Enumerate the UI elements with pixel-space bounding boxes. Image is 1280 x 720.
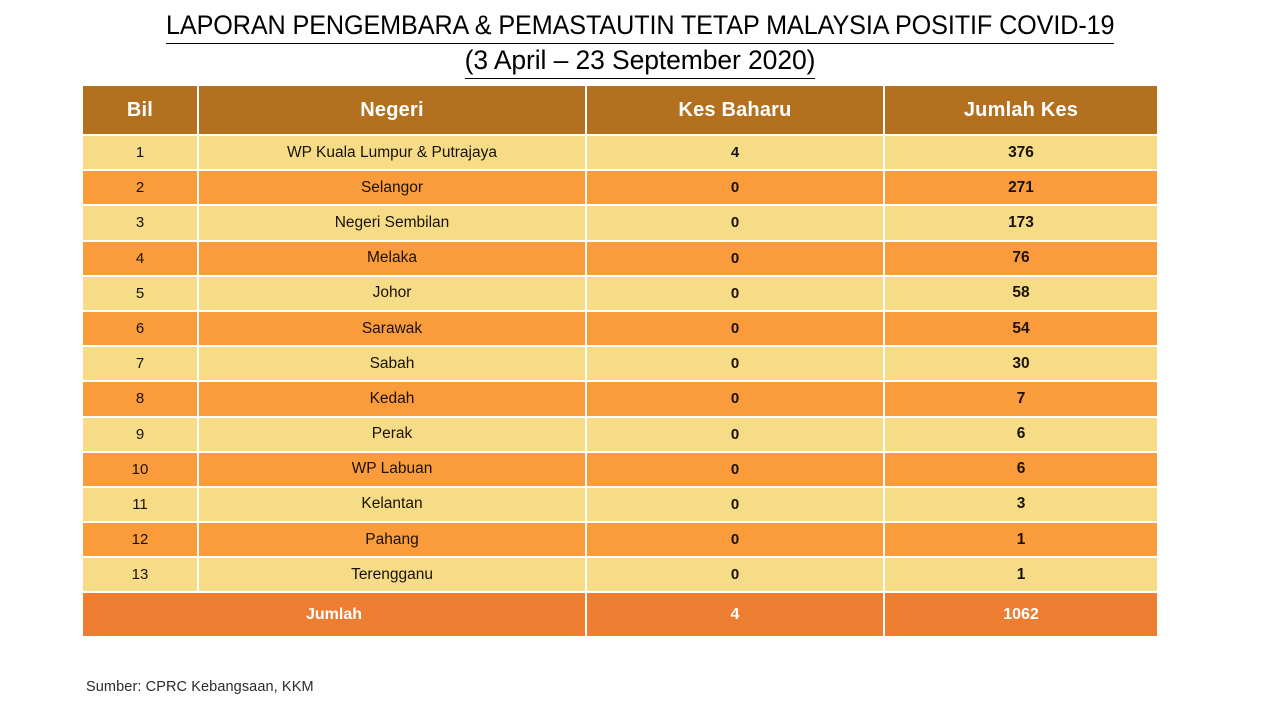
column-header-kes-baharu: Kes Baharu — [587, 86, 883, 134]
table-header: Bil Negeri Kes Baharu Jumlah Kes — [83, 86, 1157, 134]
title-line-1-text: LAPORAN PENGEMBARA & PEMASTAUTIN TETAP M… — [166, 9, 1114, 44]
cell-bil: 1 — [83, 136, 197, 169]
cell-kes-baharu: 0 — [587, 488, 883, 521]
table-row: 1WP Kuala Lumpur & Putrajaya4376 — [83, 136, 1157, 169]
cell-kes-baharu: 4 — [587, 136, 883, 169]
table-body: 1WP Kuala Lumpur & Putrajaya43762Selango… — [83, 136, 1157, 636]
cell-kes-baharu: 0 — [587, 523, 883, 556]
cell-bil: 12 — [83, 523, 197, 556]
total-label: Jumlah — [83, 593, 585, 636]
cell-negeri: Sabah — [199, 347, 585, 380]
cell-jumlah-kes: 173 — [885, 206, 1157, 239]
table-row: 3Negeri Sembilan0173 — [83, 206, 1157, 239]
table-row: 6Sarawak054 — [83, 312, 1157, 345]
table-row: 12Pahang01 — [83, 523, 1157, 556]
cell-bil: 7 — [83, 347, 197, 380]
page-title: LAPORAN PENGEMBARA & PEMASTAUTIN TETAP M… — [0, 0, 1280, 79]
title-line-2-text: (3 April – 23 September 2020) — [465, 44, 816, 79]
total-jumlah-kes: 1062 — [885, 593, 1157, 636]
cell-jumlah-kes: 58 — [885, 277, 1157, 310]
cell-kes-baharu: 0 — [587, 277, 883, 310]
title-line-2: (3 April – 23 September 2020) — [0, 44, 1280, 79]
table-row: 2Selangor0271 — [83, 171, 1157, 204]
table-total-row: Jumlah41062 — [83, 593, 1157, 636]
table-row: 5Johor058 — [83, 277, 1157, 310]
cell-kes-baharu: 0 — [587, 206, 883, 239]
total-kes-baharu: 4 — [587, 593, 883, 636]
cell-jumlah-kes: 271 — [885, 171, 1157, 204]
cell-jumlah-kes: 3 — [885, 488, 1157, 521]
table-row: 7Sabah030 — [83, 347, 1157, 380]
cell-kes-baharu: 0 — [587, 453, 883, 486]
column-header-negeri: Negeri — [199, 86, 585, 134]
cell-jumlah-kes: 76 — [885, 242, 1157, 275]
table-row: 13Terengganu01 — [83, 558, 1157, 591]
cell-kes-baharu: 0 — [587, 347, 883, 380]
cell-jumlah-kes: 7 — [885, 382, 1157, 415]
cell-negeri: WP Labuan — [199, 453, 585, 486]
cell-bil: 10 — [83, 453, 197, 486]
table-row: 11Kelantan03 — [83, 488, 1157, 521]
cell-bil: 4 — [83, 242, 197, 275]
cell-negeri: Perak — [199, 418, 585, 451]
cell-negeri: Johor — [199, 277, 585, 310]
cell-jumlah-kes: 1 — [885, 558, 1157, 591]
cell-kes-baharu: 0 — [587, 242, 883, 275]
cell-bil: 8 — [83, 382, 197, 415]
table-row: 9Perak06 — [83, 418, 1157, 451]
source-note: Sumber: CPRC Kebangsaan, KKM — [86, 679, 314, 695]
cell-negeri: Kelantan — [199, 488, 585, 521]
cell-negeri: Pahang — [199, 523, 585, 556]
cell-negeri: Selangor — [199, 171, 585, 204]
cell-negeri: Terengganu — [199, 558, 585, 591]
cell-jumlah-kes: 376 — [885, 136, 1157, 169]
report-table-container: Bil Negeri Kes Baharu Jumlah Kes 1WP Kua… — [81, 84, 1159, 638]
cell-bil: 11 — [83, 488, 197, 521]
table-row: 4Melaka076 — [83, 242, 1157, 275]
cell-negeri: Sarawak — [199, 312, 585, 345]
cell-jumlah-kes: 6 — [885, 418, 1157, 451]
cell-bil: 3 — [83, 206, 197, 239]
cell-kes-baharu: 0 — [587, 558, 883, 591]
cell-kes-baharu: 0 — [587, 312, 883, 345]
table-row: 10WP Labuan06 — [83, 453, 1157, 486]
table-row: 8Kedah07 — [83, 382, 1157, 415]
cell-bil: 9 — [83, 418, 197, 451]
cell-bil: 13 — [83, 558, 197, 591]
cell-bil: 2 — [83, 171, 197, 204]
cell-jumlah-kes: 54 — [885, 312, 1157, 345]
cell-negeri: Kedah — [199, 382, 585, 415]
title-line-1: LAPORAN PENGEMBARA & PEMASTAUTIN TETAP M… — [0, 9, 1280, 44]
covid-cases-table: Bil Negeri Kes Baharu Jumlah Kes 1WP Kua… — [81, 84, 1159, 638]
cell-negeri: Melaka — [199, 242, 585, 275]
cell-kes-baharu: 0 — [587, 171, 883, 204]
cell-negeri: Negeri Sembilan — [199, 206, 585, 239]
column-header-bil: Bil — [83, 86, 197, 134]
cell-jumlah-kes: 30 — [885, 347, 1157, 380]
cell-jumlah-kes: 1 — [885, 523, 1157, 556]
cell-bil: 5 — [83, 277, 197, 310]
cell-jumlah-kes: 6 — [885, 453, 1157, 486]
column-header-jumlah-kes: Jumlah Kes — [885, 86, 1157, 134]
cell-negeri: WP Kuala Lumpur & Putrajaya — [199, 136, 585, 169]
cell-bil: 6 — [83, 312, 197, 345]
table-header-row: Bil Negeri Kes Baharu Jumlah Kes — [83, 86, 1157, 134]
cell-kes-baharu: 0 — [587, 418, 883, 451]
cell-kes-baharu: 0 — [587, 382, 883, 415]
